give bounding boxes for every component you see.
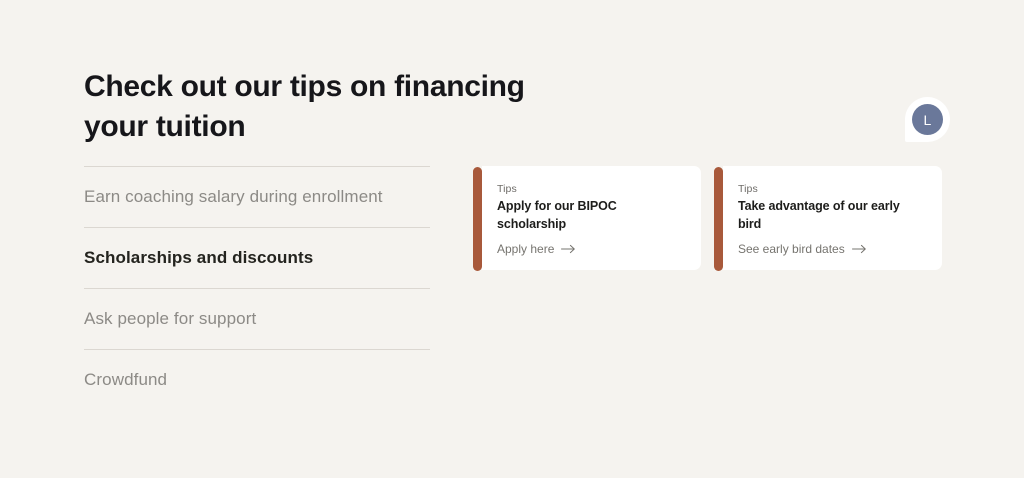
tip-card-body: Tips Apply for our BIPOC scholarship App… (482, 166, 701, 270)
topic-item-label: Crowdfund (84, 370, 167, 390)
card-link[interactable]: See early bird dates (738, 241, 926, 257)
tip-card[interactable]: Tips Take advantage of our early bird Se… (714, 166, 942, 270)
tip-card-body: Tips Take advantage of our early bird Se… (723, 166, 942, 270)
topic-list-item[interactable]: Crowdfund (84, 349, 430, 410)
card-link[interactable]: Apply here (497, 241, 685, 257)
topic-list-item-selected[interactable]: Scholarships and discounts (84, 227, 430, 288)
card-link-label: See early bird dates (738, 241, 845, 257)
card-accent-bar (714, 167, 723, 271)
topic-list-item[interactable]: Ask people for support (84, 288, 430, 349)
topic-item-label: Scholarships and discounts (84, 248, 313, 268)
avatar-bubble[interactable]: L (905, 97, 950, 142)
topic-list: Earn coaching salary during enrollment S… (84, 166, 430, 410)
avatar: L (912, 104, 943, 135)
topic-item-label: Ask people for support (84, 309, 256, 329)
topic-list-item[interactable]: Earn coaching salary during enrollment (84, 166, 430, 227)
topic-item-label: Earn coaching salary during enrollment (84, 187, 383, 207)
card-title: Take advantage of our early bird (738, 197, 926, 233)
card-accent-bar (473, 167, 482, 271)
arrow-right-icon (561, 244, 576, 254)
tip-card[interactable]: Tips Apply for our BIPOC scholarship App… (473, 166, 701, 270)
card-link-label: Apply here (497, 241, 554, 257)
card-title: Apply for our BIPOC scholarship (497, 197, 685, 233)
tip-card-row: Tips Apply for our BIPOC scholarship App… (473, 166, 942, 270)
page-root: Check out our tips on financing your tui… (0, 0, 1024, 478)
page-title: Check out our tips on financing your tui… (84, 67, 554, 147)
card-eyebrow: Tips (738, 182, 926, 196)
card-eyebrow: Tips (497, 182, 685, 196)
arrow-right-icon (852, 244, 867, 254)
